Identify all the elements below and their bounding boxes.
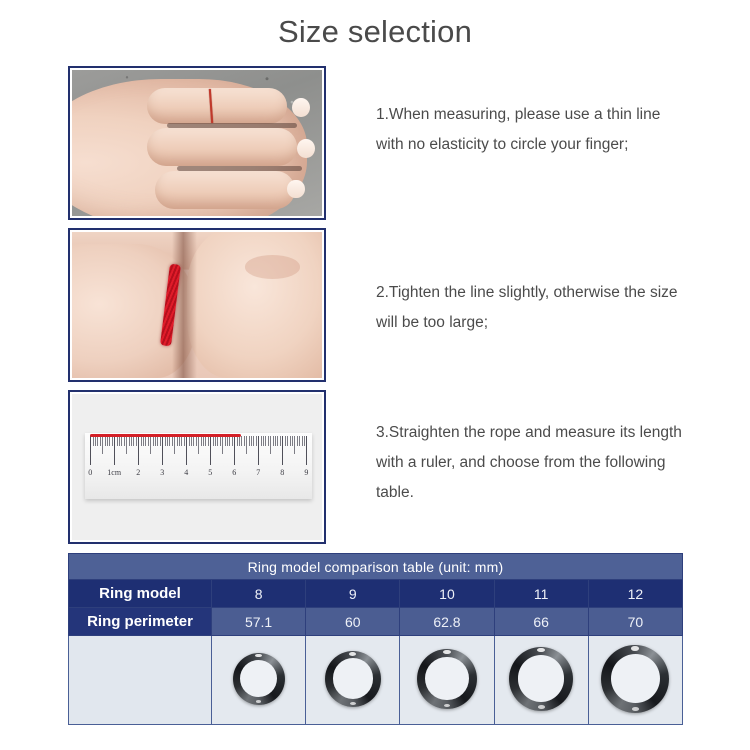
- page-title: Size selection: [0, 14, 750, 50]
- cell-ring-perimeter-4: 70: [588, 608, 682, 636]
- ruler-ticks: [90, 436, 306, 465]
- ring-icon-11: [509, 647, 573, 711]
- ruler-graphic: 01cm23456789: [85, 433, 313, 499]
- hand-with-thin-red-line-photo: [68, 66, 326, 220]
- cell-ring-perimeter-3: 66: [494, 608, 588, 636]
- cell-ring-model-1: 9: [306, 580, 400, 608]
- finger-with-tightened-red-cord-photo: [68, 228, 326, 382]
- row-label-ring-perimeter: Ring perimeter: [69, 608, 212, 636]
- ruler-label-7: 7: [256, 468, 260, 477]
- ruler-label-0: 0: [88, 468, 92, 477]
- ruler-measuring-red-line-photo: 01cm23456789: [68, 390, 326, 544]
- cell-ring-model-2: 10: [400, 580, 494, 608]
- ring-row-empty-label: [69, 636, 212, 725]
- row-label-ring-model: Ring model: [69, 580, 212, 608]
- ruler-label-8: 8: [280, 468, 284, 477]
- ring-image-cell-2: [400, 636, 494, 725]
- cell-ring-perimeter-0: 57.1: [212, 608, 306, 636]
- step-1-text: 1.When measuring, please use a thin line…: [376, 100, 688, 160]
- ring-icon-8: [233, 653, 285, 705]
- cell-ring-perimeter-1: 60: [306, 608, 400, 636]
- ring-icon-10: [417, 649, 477, 709]
- ruler-label-6: 6: [232, 468, 236, 477]
- cell-ring-model-3: 11: [494, 580, 588, 608]
- ruler-label-9: 9: [304, 468, 308, 477]
- ring-image-cell-4: [588, 636, 682, 725]
- ruler-label-2: 2: [136, 468, 140, 477]
- ruler-label-5: 5: [208, 468, 212, 477]
- ring-icon-9: [325, 651, 381, 707]
- table-title-row: Ring model comparison table (unit: mm): [69, 554, 683, 580]
- table-title: Ring model comparison table (unit: mm): [69, 554, 683, 580]
- table-row-ring-perimeter: Ring perimeter 57.1 60 62.8 66 70: [69, 608, 683, 636]
- ruler-label-1: 1cm: [107, 468, 121, 477]
- cell-ring-perimeter-2: 62.8: [400, 608, 494, 636]
- ring-size-comparison-table: Ring model comparison table (unit: mm) R…: [68, 553, 683, 725]
- measured-red-line: [90, 434, 241, 437]
- ring-image-cell-0: [212, 636, 306, 725]
- cell-ring-model-0: 8: [212, 580, 306, 608]
- ruler-label-3: 3: [160, 468, 164, 477]
- step-3-text: 3.Straighten the rope and measure its le…: [376, 418, 688, 508]
- ring-icon-12: [601, 645, 669, 713]
- table-row-ring-images: [69, 636, 683, 725]
- step-2-text: 2.Tighten the line slightly, otherwise t…: [376, 278, 688, 338]
- ruler-number-labels: 01cm23456789: [90, 468, 306, 494]
- ring-image-cell-1: [306, 636, 400, 725]
- cell-ring-model-4: 12: [588, 580, 682, 608]
- ruler-label-4: 4: [184, 468, 188, 477]
- ring-image-cell-3: [494, 636, 588, 725]
- table-row-ring-model: Ring model 8 9 10 11 12: [69, 580, 683, 608]
